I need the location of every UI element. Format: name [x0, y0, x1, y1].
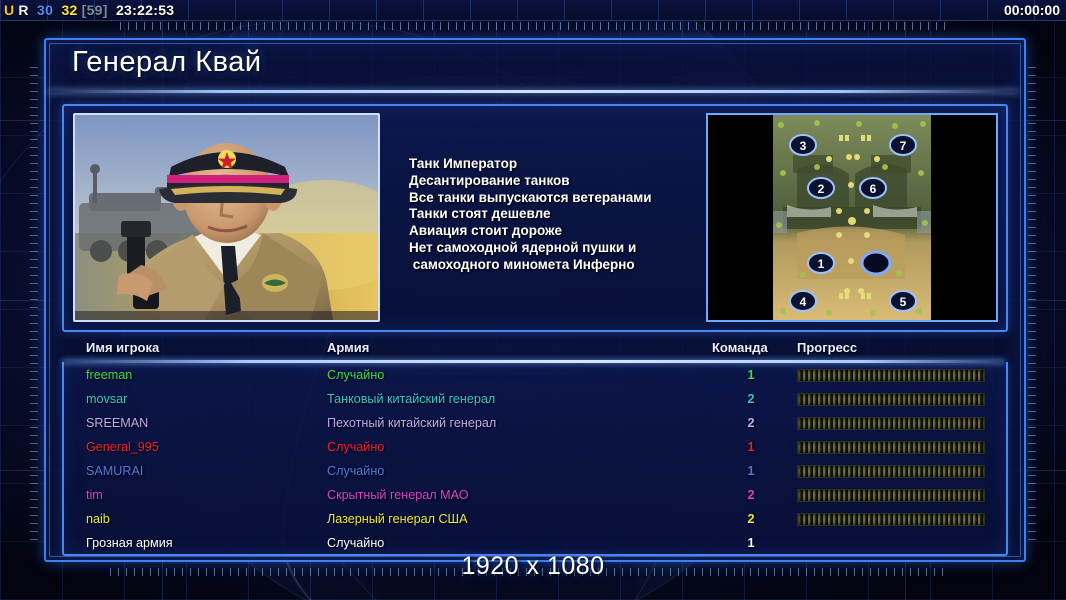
ruler-top [120, 22, 950, 30]
general-description: Танк Император Десантирование танков Все… [409, 156, 739, 274]
svg-text:3: 3 [800, 139, 807, 153]
player-table-rows: freemanСлучайно1movsarТанковый китайский… [62, 363, 1004, 553]
header-army: Армия [327, 340, 369, 355]
map-preview-image: 3 7 2 6 1 4 5 [773, 115, 931, 320]
table-row[interactable]: timСкрытный генерал МАО2 [62, 483, 1004, 507]
player-army: Пехотный китайский генерал [327, 411, 496, 435]
svg-text:4: 4 [800, 295, 807, 309]
status-value-1: 30 [37, 2, 53, 18]
player-team: 1 [742, 363, 760, 387]
svg-text:1: 1 [818, 257, 825, 271]
table-row[interactable]: SAMURAIСлучайно1 [62, 459, 1004, 483]
player-team: 1 [742, 459, 760, 483]
player-name: movsar [86, 387, 127, 411]
resolution-overlay: 1920 x 1080 [0, 552, 1066, 581]
svg-text:5: 5 [900, 295, 907, 309]
table-row[interactable]: movsarТанковый китайский генерал2 [62, 387, 1004, 411]
player-name: General_995 [86, 435, 159, 459]
header-progress: Прогресс [797, 340, 857, 355]
player-team: 2 [742, 507, 760, 531]
player-army: Случайно [327, 363, 384, 387]
player-team: 2 [742, 483, 760, 507]
top-status-bar: UR 30 32[59] 23:22:53 00:00:00 [0, 0, 1066, 21]
player-progress-bar [797, 465, 985, 478]
ruler-left [30, 60, 38, 540]
header-player-name: Имя игрока [86, 340, 159, 355]
player-army: Случайно [327, 435, 384, 459]
player-army: Танковый китайский генерал [327, 387, 495, 411]
page-title: Генерал Квай [72, 46, 262, 79]
desc-line-1: Танк Император [409, 156, 739, 173]
desc-line-4: Танки стоят дешевле [409, 206, 739, 223]
game-lobby-screen: UR 30 32[59] 23:22:53 00:00:00 Генерал К… [0, 0, 1066, 600]
desc-line-7: самоходного миномета Инферно [409, 257, 739, 274]
player-name: tim [86, 483, 103, 507]
general-info-panel: Танк Император Десантирование танков Все… [62, 104, 1008, 332]
player-team: 1 [742, 435, 760, 459]
network-status-readout: UR 30 32[59] 23:22:53 [4, 1, 178, 19]
title-divider [48, 90, 1018, 93]
player-progress-bar [797, 489, 985, 502]
svg-text:7: 7 [900, 139, 907, 153]
table-row[interactable]: naibЛазерный генерал США2 [62, 507, 1004, 531]
desc-line-2: Десантирование танков [409, 173, 739, 190]
player-name: naib [86, 507, 110, 531]
status-u-label: U [4, 2, 14, 18]
desc-line-3: Все танки выпускаются ветеранами [409, 190, 739, 207]
desc-line-5: Авиация стоит дороже [409, 223, 739, 240]
table-row[interactable]: SREEMANПехотный китайский генерал2 [62, 411, 1004, 435]
ruler-right [1028, 60, 1036, 540]
table-row[interactable]: freemanСлучайно1 [62, 363, 1004, 387]
desc-line-6: Нет самоходной ядерной пушки и [409, 240, 739, 257]
status-clock: 23:22:53 [116, 2, 174, 18]
map-preview[interactable]: 3 7 2 6 1 4 5 [706, 113, 998, 322]
player-progress-bar [797, 417, 985, 430]
svg-text:2: 2 [818, 182, 825, 196]
player-team: 2 [742, 387, 760, 411]
svg-text:6: 6 [870, 182, 877, 196]
player-name: SAMURAI [86, 459, 143, 483]
player-army: Скрытный генерал МАО [327, 483, 469, 507]
player-name: SREEMAN [86, 411, 148, 435]
player-progress-bar [797, 369, 985, 382]
general-portrait [73, 113, 380, 322]
table-row[interactable]: General_995Случайно1 [62, 435, 1004, 459]
header-team: Команда [712, 340, 768, 355]
player-progress-bar [797, 513, 985, 526]
status-bracket: [59] [82, 2, 108, 18]
player-name: freeman [86, 363, 132, 387]
player-progress-bar [797, 393, 985, 406]
match-timer: 00:00:00 [1004, 1, 1060, 19]
player-progress-bar [797, 441, 985, 454]
status-value-2: 32 [61, 2, 77, 18]
player-team: 2 [742, 411, 760, 435]
title-bar: Генерал Квай [46, 40, 1020, 90]
status-r-label: R [18, 2, 28, 18]
player-army: Случайно [327, 459, 384, 483]
player-table-header: Имя игрока Армия Команда Прогресс [62, 338, 1004, 360]
player-army: Лазерный генерал США [327, 507, 467, 531]
